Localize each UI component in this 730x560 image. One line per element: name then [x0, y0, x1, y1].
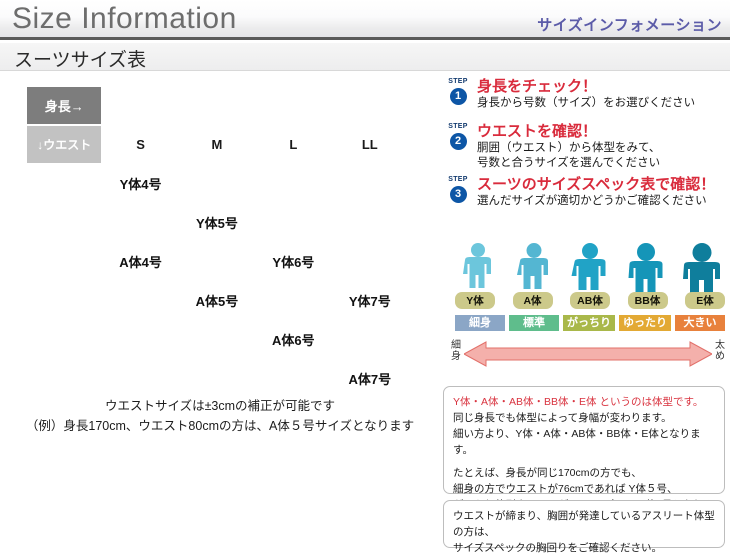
athlete-note-line1: ウエストが締まり、胸囲が発達しているアスリート体型の方は、: [453, 508, 715, 540]
table-cell-r1-c0: [103, 204, 177, 241]
badge-BB体: BB体: [628, 292, 668, 309]
size-table-wrapper: 身長→165cm170cm175cm180cm↓ウエストSMLLL74cmY体4…: [25, 85, 409, 399]
person-icon-A体: [511, 242, 557, 298]
info-spacer: [453, 458, 715, 465]
step-number-1: 1: [450, 88, 467, 105]
step-1: STEP 1 身長をチェック！ 身長から号数（サイズ）をお選びください: [443, 78, 725, 118]
table-cell-r0-c2: [256, 165, 330, 202]
section-title: スーツサイズ表: [14, 45, 146, 72]
table-cell-r2-c0[interactable]: A体4号: [103, 243, 177, 280]
table-cell-r4-c3: [333, 321, 407, 358]
table-header-height-2: 175cm: [256, 87, 330, 124]
info-line-3: 細い方より、Y体・A体・AB体・BB体・E体となります。: [453, 426, 715, 458]
table-row: 74cmY体4号: [27, 165, 407, 202]
step-number-3: 3: [450, 186, 467, 203]
athlete-note-box: ウエストが締まり、胸囲が発達しているアスリート体型の方は、 サイズスペックの胸回…: [443, 500, 725, 548]
table-header-row-height: 身長→165cm170cm175cm180cm: [27, 87, 407, 124]
step-title-1: 身長をチェック！: [477, 78, 725, 95]
info-line-2: 同じ身長でも体型によって身幅が変わります。: [453, 410, 715, 426]
table-header-size-1: M: [180, 126, 254, 163]
scale-left-label: 細身: [450, 340, 462, 362]
figure-A体: [511, 242, 557, 298]
table-cell-r2-c3: [333, 243, 407, 280]
table-row: 76cmY体5号: [27, 204, 407, 241]
table-cell-r2-c2[interactable]: Y体6号: [256, 243, 330, 280]
table-note-line1: ウエストサイズは±3cmの補正が可能です: [25, 396, 415, 416]
table-cell-r4-c0: [103, 321, 177, 358]
table-note-line2: （例）身長170cm、ウエスト80cmの方は、A体５号サイズとなります: [25, 416, 415, 436]
body-type-color-labels: 細身標準がっちりゆったり大きい: [455, 314, 725, 331]
body-type-badges: Y体A体AB体BB体E体: [455, 292, 725, 308]
table-corner-waist: ↓ウエスト: [27, 126, 101, 163]
person-icon-Y体: [455, 242, 501, 298]
table-header-size-0: S: [103, 126, 177, 163]
info-line-1-rest: というのは体型です。: [597, 396, 704, 408]
info-line-4: たとえば、身長が同じ170cmの方でも、: [453, 465, 715, 481]
step-badge-2: STEP 2: [443, 123, 473, 150]
page-subtitle: サイズインフォメーション: [537, 14, 722, 35]
badge-Y体: Y体: [455, 292, 495, 309]
info-line-1: Y体・A体・AB体・BB体・E体 というのは体型です。: [453, 394, 715, 410]
table-row: 82cmA体6号: [27, 321, 407, 358]
color-label-BB体: ゆったり: [619, 315, 671, 331]
table-row: 84cmA体7号: [27, 360, 407, 397]
table-header-height-3: 180cm: [333, 87, 407, 124]
step-3: STEP 3 スーツのサイズスペック表で確認！ 選んだサイズが適切かどうかご確認…: [443, 176, 725, 216]
table-cell-r2-c1: [180, 243, 254, 280]
person-icon-BB体: [623, 242, 669, 298]
table-cell-r1-c1[interactable]: Y体5号: [180, 204, 254, 241]
table-note: ウエストサイズは±3cmの補正が可能です （例）身長170cm、ウエスト80cm…: [25, 396, 415, 436]
table-cell-r1-c2: [256, 204, 330, 241]
step-badge-3: STEP 3: [443, 176, 473, 203]
figure-E体: [679, 242, 725, 298]
size-table: 身長→165cm170cm175cm180cm↓ウエストSMLLL74cmY体4…: [25, 85, 409, 399]
steps-panel: STEP 1 身長をチェック！ 身長から号数（サイズ）をお選びください STEP…: [443, 78, 725, 221]
step-number-2: 2: [450, 133, 467, 150]
table-header-row-size: ↓ウエストSMLLL: [27, 126, 407, 163]
body-type-explanation-box: Y体・A体・AB体・BB体・E体 というのは体型です。 同じ身長でも体型によって…: [443, 386, 725, 494]
table-waist-2: 78cm: [27, 243, 101, 280]
table-header-size-2: L: [256, 126, 330, 163]
table-cell-r5-c0: [103, 360, 177, 397]
step-body-2-0: 胴囲（ウエスト）から体型をみて、: [477, 141, 725, 156]
table-header-height-0: 165cm: [103, 87, 177, 124]
badge-AB体: AB体: [570, 292, 610, 309]
color-label-E体: 大きい: [675, 315, 725, 331]
step-word-1: STEP: [443, 78, 473, 86]
table-row: 78cmA体4号Y体6号: [27, 243, 407, 280]
table-waist-3: 80cm: [27, 282, 101, 319]
table-cell-r3-c3[interactable]: Y体7号: [333, 282, 407, 319]
table-cell-r0-c1: [180, 165, 254, 202]
table-waist-1: 76cm: [27, 204, 101, 241]
table-cell-r3-c2: [256, 282, 330, 319]
table-cell-r0-c0[interactable]: Y体4号: [103, 165, 177, 202]
table-cell-r4-c1: [180, 321, 254, 358]
table-header-height-1: 170cm: [180, 87, 254, 124]
person-icon-AB体: [567, 242, 613, 298]
table-cell-r3-c0: [103, 282, 177, 319]
figure-BB体: [623, 242, 669, 298]
figure-Y体: [455, 242, 501, 298]
table-header-size-3: LL: [333, 126, 407, 163]
table-cell-r3-c1[interactable]: A体5号: [180, 282, 254, 319]
table-waist-0: 74cm: [27, 165, 101, 202]
color-label-Y体: 細身: [455, 315, 505, 331]
table-row: 80cmA体5号Y体7号: [27, 282, 407, 319]
table-cell-r0-c3: [333, 165, 407, 202]
figure-AB体: [567, 242, 613, 298]
table-cell-r5-c3[interactable]: A体7号: [333, 360, 407, 397]
step-title-3: スーツのサイズスペック表で確認！: [477, 176, 725, 193]
step-2: STEP 2 ウエストを確認！ 胴囲（ウエスト）から体型をみて、 号数と合うサイ…: [443, 123, 725, 171]
step-body-2-1: 号数と合うサイズを選んでください: [477, 156, 725, 171]
table-waist-4: 82cm: [27, 321, 101, 358]
table-cell-r1-c3: [333, 204, 407, 241]
table-cell-r4-c2[interactable]: A体6号: [256, 321, 330, 358]
double-arrow-icon: [464, 339, 712, 369]
step-title-2: ウエストを確認！: [477, 123, 725, 140]
step-badge-1: STEP 1: [443, 78, 473, 105]
table-cell-r5-c1: [180, 360, 254, 397]
badge-E体: E体: [685, 292, 725, 309]
table-waist-5: 84cm: [27, 360, 101, 397]
step-body-1-0: 身長から号数（サイズ）をお選びください: [477, 96, 725, 111]
table-corner-height: 身長→: [27, 87, 101, 124]
thin-to-thick-scale: 細身 太め: [450, 338, 726, 372]
page-title: Size Information: [12, 2, 237, 36]
info-line-5: 細身の方でウエストが76cmであれば Y体５号、: [453, 481, 715, 497]
color-label-A体: 標準: [509, 315, 559, 331]
person-icon-E体: [679, 242, 725, 298]
step-word-3: STEP: [443, 176, 473, 184]
table-cell-r5-c2: [256, 360, 330, 397]
step-body-3-0: 選んだサイズが適切かどうかご確認ください: [477, 194, 725, 209]
athlete-note-line2: サイズスペックの胸回りをご確認ください。: [453, 540, 715, 556]
body-type-figures: [455, 240, 725, 298]
info-line-1-red: Y体・A体・AB体・BB体・E体: [453, 396, 597, 408]
badge-A体: A体: [513, 292, 553, 309]
step-word-2: STEP: [443, 123, 473, 131]
color-label-AB体: がっちり: [563, 315, 615, 331]
scale-right-label: 太め: [714, 340, 726, 362]
